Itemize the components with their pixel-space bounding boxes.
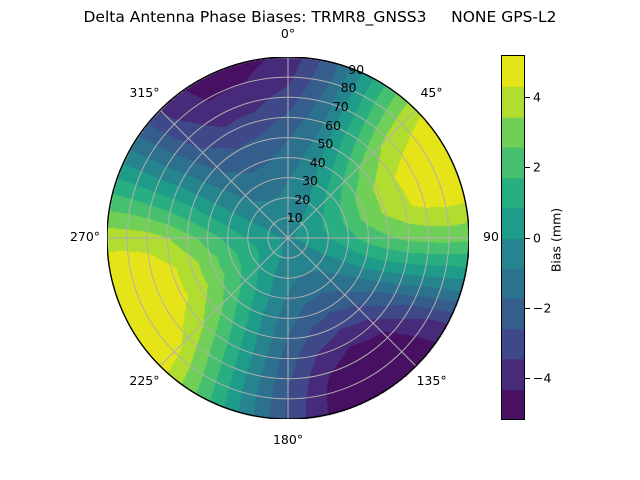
colorbar-tick <box>525 97 530 98</box>
polar-contour-svg <box>107 57 469 419</box>
angular-tick-label: 270° <box>59 229 111 244</box>
radial-tick-label: 40 <box>310 155 326 170</box>
angular-tick-label: 315° <box>118 85 170 100</box>
colorbar-tick-label: −4 <box>533 370 551 385</box>
radial-tick-label: 60 <box>325 118 341 133</box>
radial-tick-label: 70 <box>333 99 349 114</box>
angular-tick-label: 135° <box>406 373 458 388</box>
colorbar-tick-label: 0 <box>533 230 541 245</box>
colorbar-tick <box>525 238 530 239</box>
radial-tick-label: 30 <box>302 173 318 188</box>
colorbar-tick-label: 4 <box>533 90 541 105</box>
angular-tick-label: 225° <box>118 373 170 388</box>
colorbar-tick <box>525 308 530 309</box>
angular-tick-label: 90 <box>465 229 517 244</box>
radial-tick-label: 20 <box>294 192 310 207</box>
angular-tick-label: 180° <box>262 432 314 447</box>
radial-tick-label: 10 <box>287 210 303 225</box>
chart-title: Delta Antenna Phase Biases: TRMR8_GNSS3 … <box>0 8 640 26</box>
angular-tick-label: 45° <box>406 85 458 100</box>
radial-tick-label: 50 <box>317 136 333 151</box>
figure-canvas: Delta Antenna Phase Biases: TRMR8_GNSS3 … <box>0 0 640 480</box>
radial-tick-label: 90 <box>348 62 364 77</box>
colorbar-tick-label: −2 <box>533 300 551 315</box>
colorbar-tick <box>525 378 530 379</box>
colorbar-tick <box>525 167 530 168</box>
colorbar-axis-label: Bias (mm) <box>549 208 564 272</box>
polar-plot-area <box>107 57 469 419</box>
colorbar-tick-label: 2 <box>533 160 541 175</box>
radial-tick-label: 80 <box>341 80 357 95</box>
angular-tick-label: 0° <box>262 26 314 41</box>
